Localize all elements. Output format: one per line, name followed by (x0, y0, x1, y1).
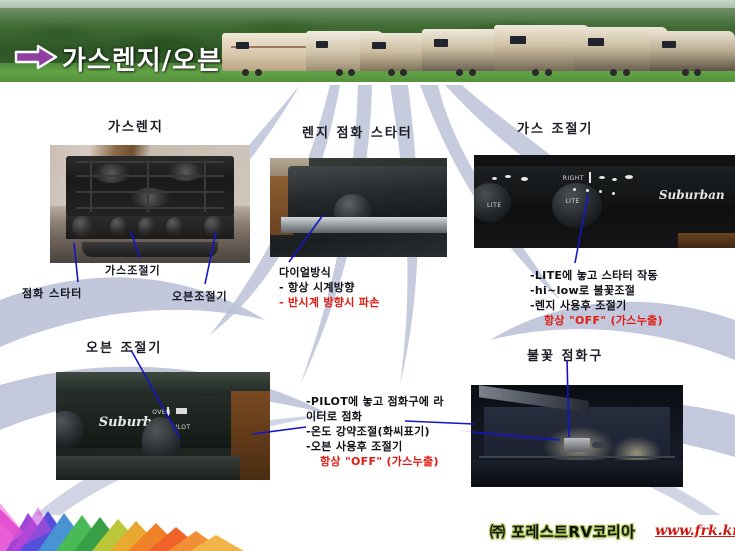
bullet-line: 이터로 점화 (306, 409, 444, 424)
callout-ignition-starter: 점화 스타터 (22, 285, 82, 301)
oven-floor (471, 460, 683, 487)
ignition-starter-knob[interactable] (72, 216, 94, 238)
right-knob-label: LITE (565, 198, 580, 205)
gas-knob[interactable] (110, 217, 128, 236)
right-gas-knob[interactable] (552, 183, 602, 228)
footer-company-name: ㈜ 포레스트RV코리아 (490, 521, 635, 542)
rv-window (316, 41, 328, 48)
rv-window (510, 36, 526, 44)
oven-rack-edge (479, 456, 674, 458)
rv-window (236, 42, 249, 49)
page-title: 가스렌지/오븐 (62, 40, 222, 77)
grate-bar (147, 159, 149, 212)
section-title-gas-control: 가스 조절기 (517, 118, 593, 137)
right-arrow-icon (14, 44, 58, 70)
rv-wheel (388, 69, 395, 76)
igniter-assembly (564, 438, 589, 452)
bullet-line: -렌지 사용후 조절기 (530, 298, 663, 313)
rv-wheel (623, 69, 630, 76)
bullet-line: -PILOT에 놓고 점화구에 라 (306, 394, 444, 409)
gas-knob[interactable] (166, 217, 184, 236)
grate-bar (76, 191, 224, 193)
section-title-oven-control: 오븐 조절기 (86, 337, 162, 356)
rv-body (650, 31, 735, 71)
rv-wheel (694, 69, 701, 76)
rainbow-fan-graphic (0, 473, 245, 551)
bullet-line-warning: - 반시계 방향시 파손 (279, 295, 380, 310)
rv-window (372, 42, 386, 49)
slide-gas-range-oven: 가스렌지/오븐 가스렌지 점화 스타터 가스조절기 오븐조절기 렌지 점화 스타… (0, 0, 735, 551)
panel-label-right: RIGHT (563, 175, 584, 182)
range-starter-knob-photo (270, 158, 447, 257)
cooktop-surface (66, 156, 234, 217)
bullets-range-starter: 다이얼방식 - 항상 시계방향 - 반시계 방향시 파손 (279, 265, 380, 310)
rv-wheel (255, 69, 262, 76)
grate-bar (90, 159, 92, 212)
rv-wheel (400, 69, 407, 76)
section-title-range-starter: 렌지 점화 스타터 (302, 122, 413, 141)
range-top-edge (56, 372, 270, 394)
oven-door-handle (82, 242, 218, 257)
igniter-wire (592, 442, 606, 448)
rv-wheel (545, 69, 552, 76)
grate-bar (76, 207, 224, 209)
grate-bar (204, 159, 206, 212)
panel-pointer (167, 407, 169, 416)
oven-door-top (56, 456, 240, 480)
gas-knob[interactable] (138, 217, 156, 236)
rv-wheel (682, 69, 689, 76)
panel-pointer (589, 172, 591, 183)
section-title-gas-range: 가스렌지 (108, 116, 164, 135)
section-title-flame-igniter: 불꽃 점화구 (527, 345, 603, 364)
bullet-line: 다이얼방식 (279, 265, 380, 280)
grate-bar (76, 175, 224, 177)
callout-gas-regulator: 가스조절기 (105, 262, 161, 278)
rv-trailer (650, 31, 735, 71)
panel-marks (176, 408, 187, 414)
gas-cooktop-photo (50, 145, 250, 263)
rv-window (662, 41, 676, 48)
chrome-trim (281, 217, 447, 233)
bullet-line: - 항상 시계방향 (279, 280, 380, 295)
callout-oven-regulator: 오븐조절기 (172, 288, 228, 304)
rv-wheel (532, 69, 539, 76)
bullet-line: -오븐 사용후 조절기 (306, 439, 444, 454)
panel-dot (505, 175, 511, 178)
gas-control-knob-photo: RIGHT LITE LITE Suburban (474, 155, 735, 248)
rv-wheel (336, 69, 343, 76)
rv-trailer-lineup (222, 19, 735, 77)
grate-bar (76, 161, 224, 163)
rv-wheel (610, 69, 617, 76)
bullet-line: -온도 강약조절(화씨표기) (306, 424, 444, 439)
rv-wheel (456, 69, 463, 76)
header-banner: 가스렌지/오븐 (0, 0, 735, 85)
footer-website-link[interactable]: www.frk.kr (655, 523, 735, 539)
rv-wheel (348, 69, 355, 76)
oven-interior-igniter-photo (471, 385, 683, 487)
bullet-line: -hi~low로 불꽃조절 (530, 283, 663, 298)
oven-knob[interactable] (204, 216, 224, 237)
oven-control-knob-photo: Suburban OVEN OFF PILOT (56, 372, 270, 480)
burner (167, 163, 204, 181)
banner-bottom-strip (0, 82, 735, 85)
burner (93, 164, 130, 182)
rv-wheel (242, 69, 249, 76)
bullets-gas-control: -LITE에 놓고 스타터 작동 -hi~low로 불꽃조절 -렌지 사용후 조… (530, 268, 663, 328)
bullet-line-warning: 항상 "OFF" (가스누출) (306, 454, 444, 469)
rv-window (434, 39, 448, 47)
bullet-line-warning: 항상 "OFF" (가스누출) (530, 313, 663, 328)
bullet-line: -LITE에 놓고 스타터 작동 (530, 268, 663, 283)
rv-window (588, 38, 604, 46)
left-knob-label: LITE (487, 202, 502, 209)
brand-label: Suburban (659, 188, 725, 202)
bullets-oven-control: -PILOT에 놓고 점화구에 라 이터로 점화 -온도 강약조절(화씨표기) … (306, 394, 444, 469)
rv-wheel (469, 69, 476, 76)
photo-cabinet (678, 233, 735, 248)
